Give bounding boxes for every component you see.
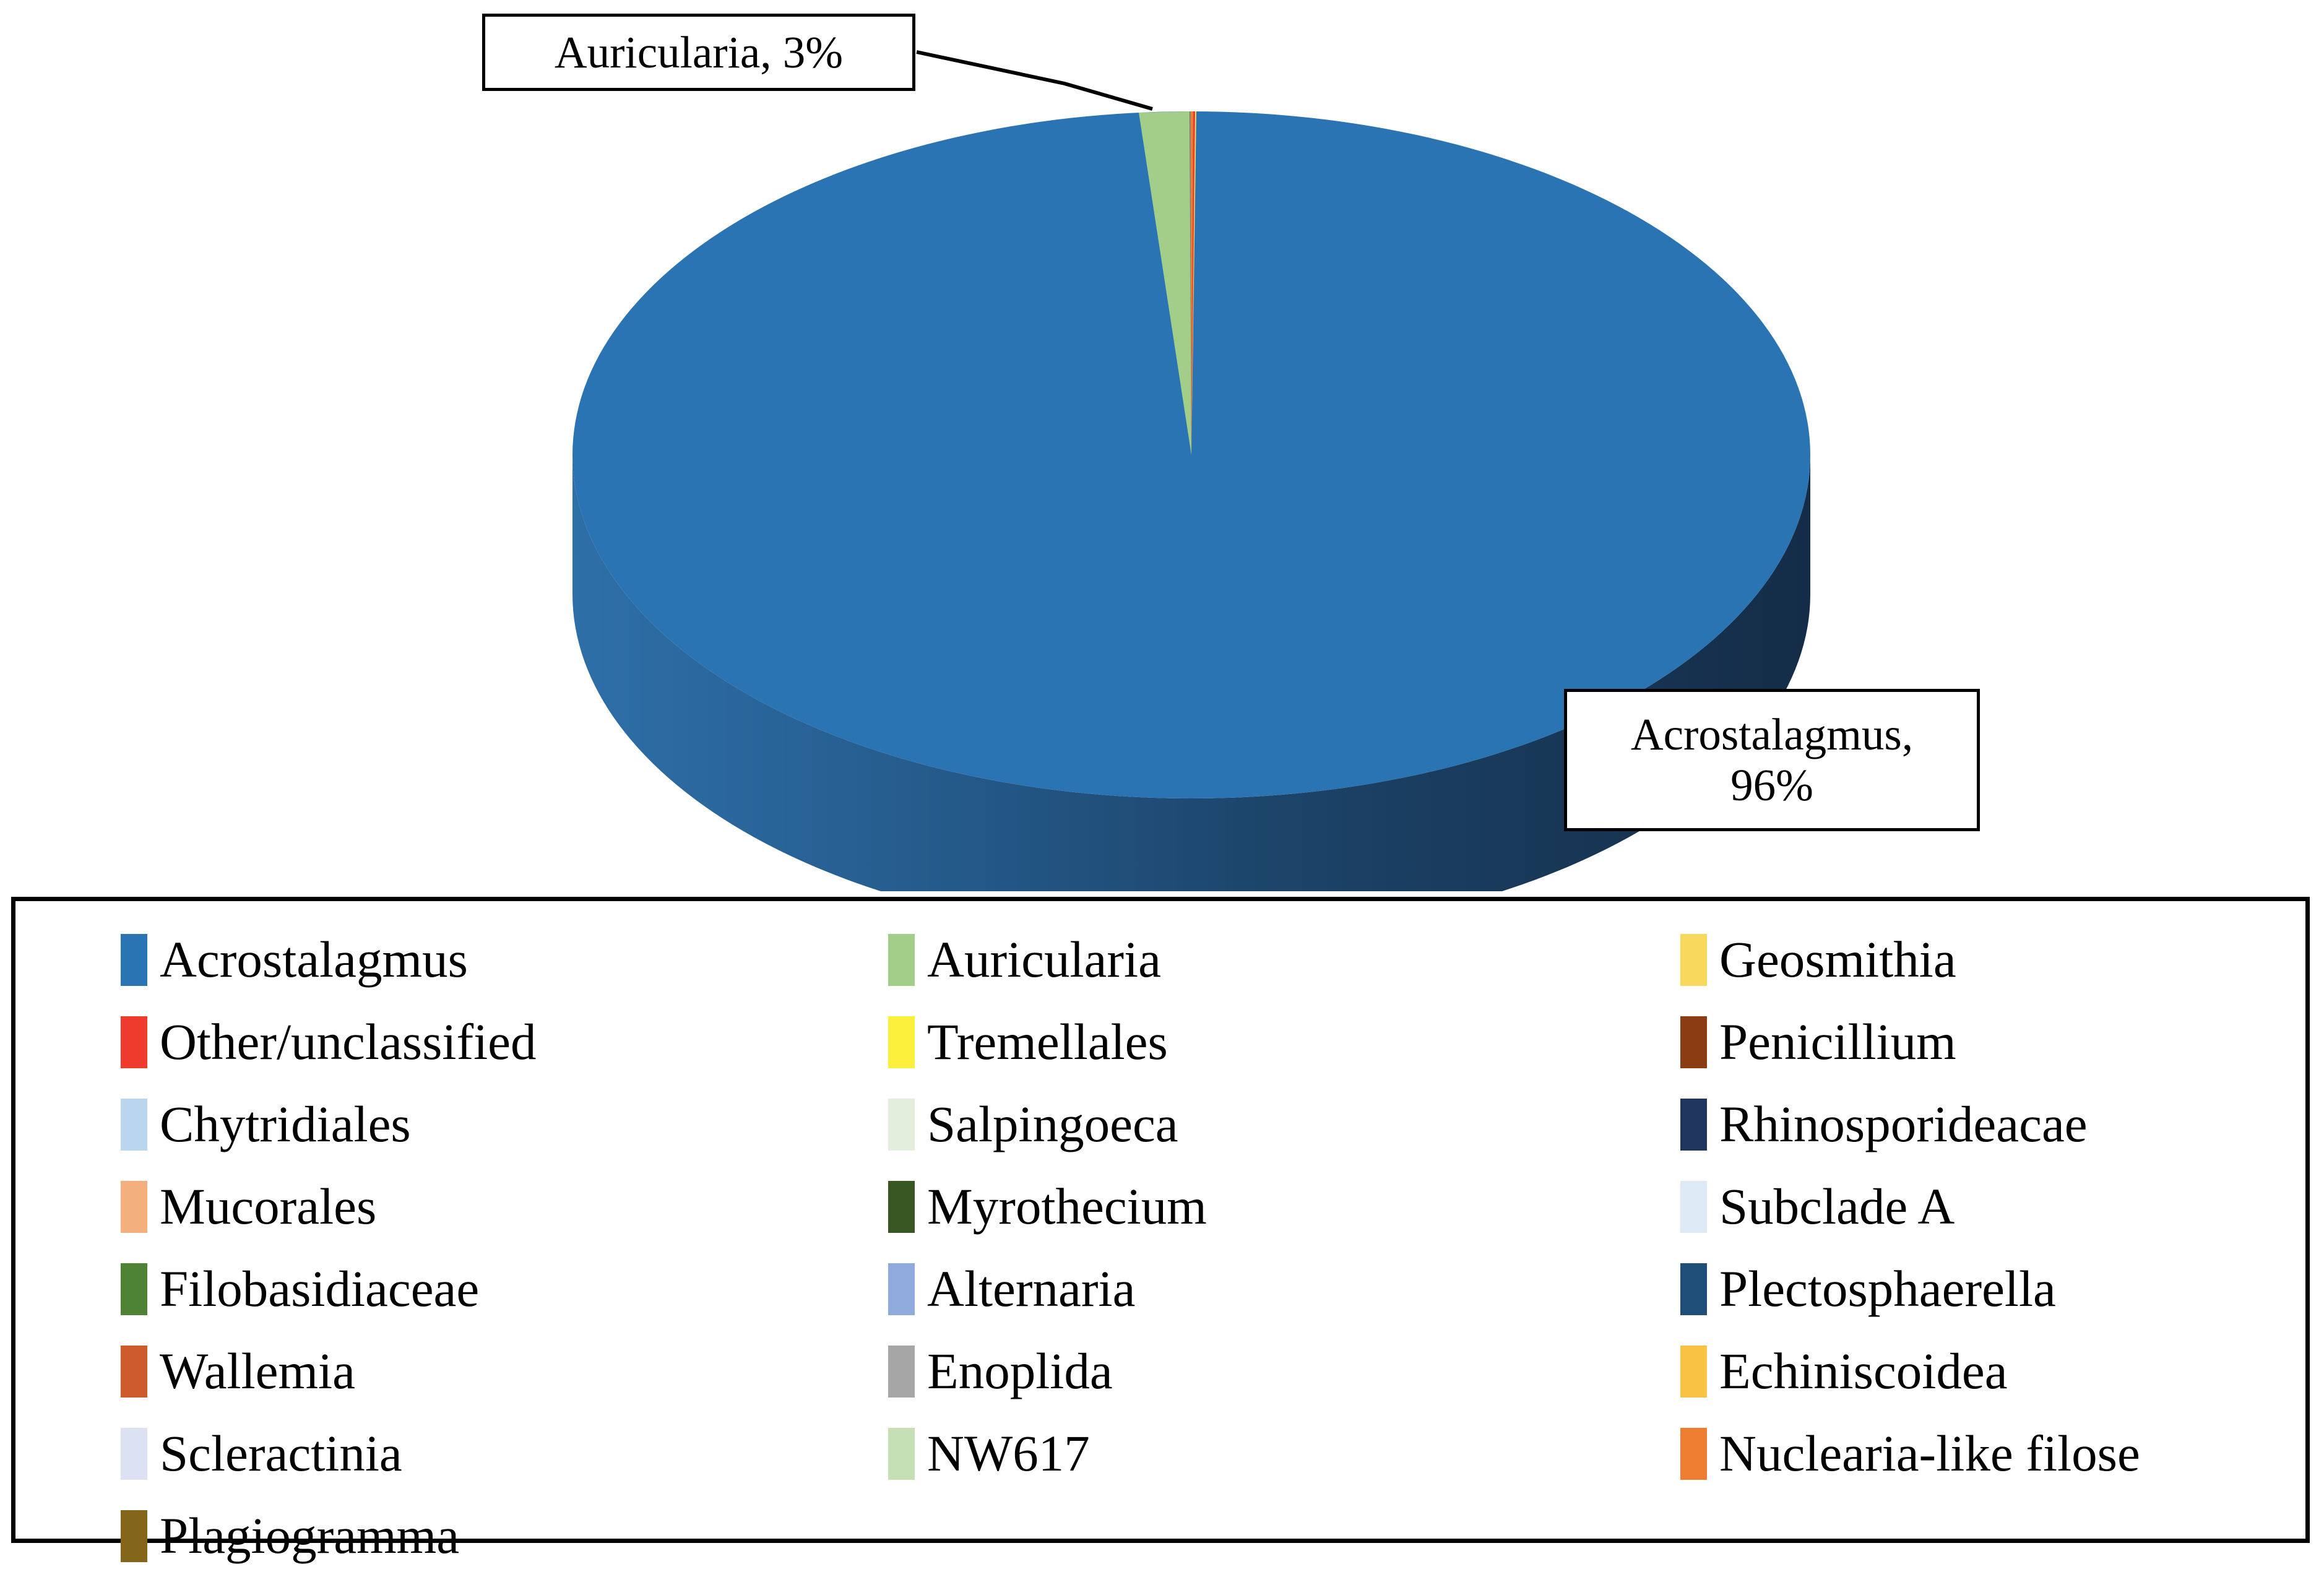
legend-label: Tremellales bbox=[927, 1016, 1168, 1068]
legend-label: NW617 bbox=[927, 1428, 1090, 1479]
legend-item-echiniscoidea[interactable]: Echiniscoidea bbox=[1680, 1330, 2287, 1412]
legend-label: Auricularia bbox=[927, 934, 1161, 985]
pie-chart-area: Auricularia, 3% Acrostalagmus, 96% bbox=[0, 0, 2324, 891]
legend-swatch-icon bbox=[888, 1099, 915, 1151]
legend-item-plagiogramma[interactable]: Plagiogramma bbox=[121, 1495, 888, 1577]
legend-label: Alternaria bbox=[927, 1263, 1135, 1315]
legend-swatch-icon bbox=[1680, 1099, 1707, 1151]
auricularia-leader-line bbox=[917, 52, 1152, 109]
legend-item-plectosphaerella[interactable]: Plectosphaerella bbox=[1680, 1248, 2287, 1330]
legend-swatch-icon bbox=[888, 1181, 915, 1233]
legend-item-acrostalagmus[interactable]: Acrostalagmus bbox=[121, 918, 888, 1001]
legend-item-tremellales[interactable]: Tremellales bbox=[888, 1001, 1680, 1083]
legend-label: Enoplida bbox=[927, 1346, 1113, 1397]
legend-label: Chytridiales bbox=[160, 1099, 411, 1150]
legend-label: Mucorales bbox=[160, 1181, 376, 1232]
legend-swatch-icon bbox=[1680, 1428, 1707, 1480]
chart-legend: Acrostalagmus Auricularia Geosmithia Oth… bbox=[11, 897, 2310, 1543]
legend-item-filobasidiaceae[interactable]: Filobasidiaceae bbox=[121, 1248, 888, 1330]
legend-item-enoplida[interactable]: Enoplida bbox=[888, 1330, 1680, 1412]
legend-item-geosmithia[interactable]: Geosmithia bbox=[1680, 918, 2287, 1001]
legend-item-nuclearia-like-filose[interactable]: Nuclearia-like filose bbox=[1680, 1412, 2287, 1495]
legend-label: Penicillium bbox=[1719, 1016, 1956, 1068]
legend-swatch-icon bbox=[121, 1099, 147, 1151]
legend-label: Plectosphaerella bbox=[1719, 1263, 2056, 1315]
legend-swatch-icon bbox=[121, 934, 147, 986]
legend-swatch-icon bbox=[888, 1428, 915, 1480]
legend-item-subclade-a[interactable]: Subclade A bbox=[1680, 1165, 2287, 1248]
legend-item-chytridiales[interactable]: Chytridiales bbox=[121, 1083, 888, 1165]
legend-grid: Acrostalagmus Auricularia Geosmithia Oth… bbox=[121, 918, 2287, 1577]
legend-label: Nuclearia-like filose bbox=[1719, 1428, 2140, 1479]
legend-swatch-icon bbox=[888, 1016, 915, 1068]
legend-swatch-icon bbox=[121, 1263, 147, 1315]
legend-label: Myrothecium bbox=[927, 1181, 1207, 1232]
callout-acrostalagmus: Acrostalagmus, 96% bbox=[1564, 689, 1980, 831]
legend-item-mucorales[interactable]: Mucorales bbox=[121, 1165, 888, 1248]
legend-swatch-icon bbox=[888, 1263, 915, 1315]
legend-swatch-icon bbox=[1680, 1016, 1707, 1068]
legend-item-wallemia[interactable]: Wallemia bbox=[121, 1330, 888, 1412]
legend-item-auricularia[interactable]: Auricularia bbox=[888, 918, 1680, 1001]
legend-swatch-icon bbox=[1680, 1346, 1707, 1398]
legend-item-alternaria[interactable]: Alternaria bbox=[888, 1248, 1680, 1330]
legend-label: Geosmithia bbox=[1719, 934, 1956, 985]
legend-label: Other/unclassified bbox=[160, 1016, 536, 1068]
legend-label: Salpingoeca bbox=[927, 1099, 1178, 1150]
legend-item-other-unclassified[interactable]: Other/unclassified bbox=[121, 1001, 888, 1083]
legend-label: Echiniscoidea bbox=[1719, 1346, 2008, 1397]
legend-label: Scleractinia bbox=[160, 1428, 402, 1479]
legend-swatch-icon bbox=[888, 1346, 915, 1398]
legend-item-salpingoeca[interactable]: Salpingoeca bbox=[888, 1083, 1680, 1165]
legend-swatch-icon bbox=[1680, 1181, 1707, 1233]
legend-swatch-icon bbox=[121, 1181, 147, 1233]
legend-item-rhinosporideacae[interactable]: Rhinosporideacae bbox=[1680, 1083, 2287, 1165]
legend-label: Acrostalagmus bbox=[160, 934, 468, 985]
legend-swatch-icon bbox=[121, 1346, 147, 1398]
legend-label: Wallemia bbox=[160, 1346, 355, 1397]
legend-label: Filobasidiaceae bbox=[160, 1263, 479, 1315]
legend-item-penicillium[interactable]: Penicillium bbox=[1680, 1001, 2287, 1083]
legend-swatch-icon bbox=[888, 934, 915, 986]
legend-swatch-icon bbox=[121, 1428, 147, 1480]
callout-auricularia: Auricularia, 3% bbox=[482, 14, 915, 91]
legend-swatch-icon bbox=[1680, 1263, 1707, 1315]
legend-swatch-icon bbox=[121, 1510, 147, 1562]
legend-label: Rhinosporideacae bbox=[1719, 1099, 2088, 1150]
legend-swatch-icon bbox=[1680, 934, 1707, 986]
legend-item-myrothecium[interactable]: Myrothecium bbox=[888, 1165, 1680, 1248]
legend-label: Subclade A bbox=[1719, 1181, 1955, 1232]
legend-item-nw617[interactable]: NW617 bbox=[888, 1412, 1680, 1495]
legend-swatch-icon bbox=[121, 1016, 147, 1068]
legend-item-scleractinia[interactable]: Scleractinia bbox=[121, 1412, 888, 1495]
legend-label: Plagiogramma bbox=[160, 1510, 459, 1562]
